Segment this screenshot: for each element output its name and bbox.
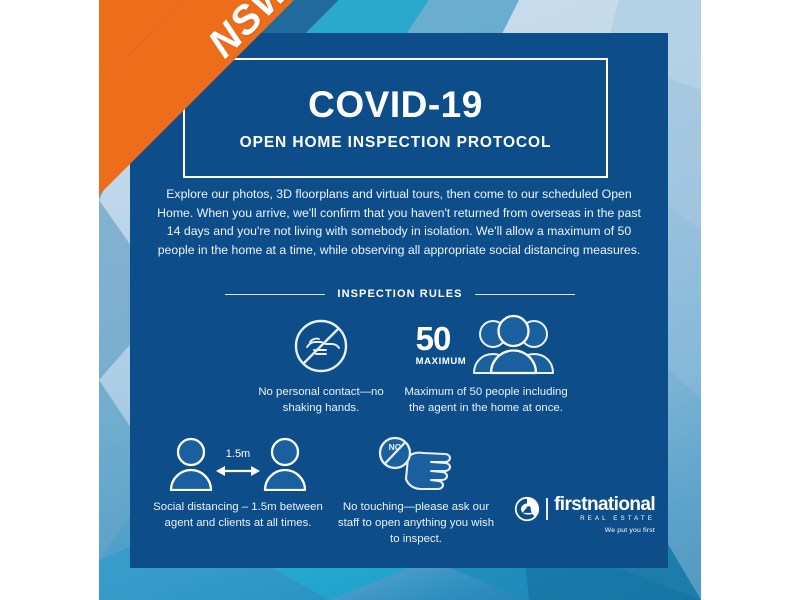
logo-wordmark: firstnational REAL ESTATE <box>554 495 655 522</box>
logo-divider <box>546 498 548 520</box>
brand-logo: firstnational REAL ESTATE We put you fir… <box>510 495 655 534</box>
icon-slot <box>258 313 384 375</box>
rule-social-distancing: 1.5m <box>150 429 326 531</box>
infographic-canvas: COVID-19 OPEN HOME INSPECTION PROTOCOL E… <box>0 0 800 600</box>
no-pointing-hand-icon: NO <box>374 435 458 491</box>
logo-name: firstnational <box>554 495 655 514</box>
no-handshake-icon <box>292 317 350 375</box>
max-number: 50 <box>416 322 451 355</box>
logo-tagline: We put you first <box>605 527 655 534</box>
rule-caption: No personal contact—no shaking hands. <box>258 384 384 416</box>
state-ribbon: NSW <box>99 0 359 260</box>
person-left-icon <box>169 437 213 491</box>
double-arrow-icon <box>215 463 261 479</box>
distance-indicator: 1.5m <box>215 448 261 491</box>
rule-no-personal-contact: No personal contact—no shaking hands. <box>258 313 384 416</box>
logo-lockup: firstnational REAL ESTATE <box>514 495 655 522</box>
logo-descriptor: REAL ESTATE <box>554 516 655 522</box>
group-of-people-icon <box>470 313 556 375</box>
no-badge-text: NO <box>389 442 402 452</box>
divider-line-left <box>225 294 325 295</box>
max-number-label: MAXIMUM <box>416 357 467 367</box>
icon-slot: NO <box>334 433 498 491</box>
section-divider: INSPECTION RULES <box>225 288 575 300</box>
first-national-logo-icon <box>514 496 540 522</box>
max-number-block: 50 MAXIMUM <box>416 322 467 367</box>
rule-max-people: 50 MAXIMUM <box>398 311 574 416</box>
rule-caption: Maximum of 50 people including the agent… <box>398 384 574 416</box>
rule-caption: No touching—please ask our staff to open… <box>334 499 498 548</box>
section-divider-label: INSPECTION RULES <box>337 288 462 300</box>
rule-caption: Social distancing – 1.5m between agent a… <box>150 499 326 531</box>
rule-no-touching: NO No touching—please ask our staff to o… <box>334 433 498 548</box>
icon-slot: 50 MAXIMUM <box>398 311 574 375</box>
icon-slot: 1.5m <box>150 429 326 491</box>
person-right-icon <box>263 437 307 491</box>
distance-value: 1.5m <box>226 448 250 460</box>
divider-line-right <box>475 294 575 295</box>
